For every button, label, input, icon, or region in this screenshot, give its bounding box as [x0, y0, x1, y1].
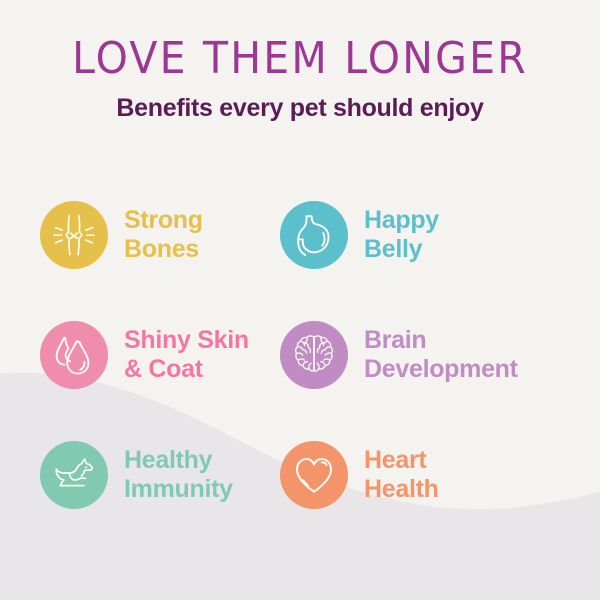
page-subtitle: Benefits every pet should enjoy	[0, 93, 600, 123]
benefit-icon-badge	[40, 441, 108, 509]
benefit-icon-badge	[40, 321, 108, 389]
heart-icon	[291, 452, 337, 498]
benefit-icon-badge	[280, 441, 348, 509]
benefit-item-strong-bones[interactable]: Strong Bones	[0, 175, 270, 295]
benefit-item-healthy-immunity[interactable]: Healthy Immunity	[0, 415, 270, 535]
bone-joint-icon	[51, 212, 97, 258]
benefit-item-happy-belly[interactable]: Happy Belly	[270, 175, 600, 295]
benefits-row: Strong Bones Happy Belly	[0, 175, 600, 295]
water-droplets-icon	[51, 332, 97, 378]
benefit-label: Strong Bones	[124, 206, 203, 264]
page-title: LOVE THEM LONGER	[0, 33, 600, 84]
benefit-item-shiny-skin-and-coat[interactable]: Shiny Skin & Coat	[0, 295, 270, 415]
benefits-row: Healthy Immunity Heart Health	[0, 415, 600, 535]
brain-icon	[291, 332, 337, 378]
benefit-label: Heart Health	[364, 446, 439, 504]
stomach-icon	[291, 212, 337, 258]
benefit-icon-badge	[280, 201, 348, 269]
benefit-item-brain-development[interactable]: Brain Development	[270, 295, 600, 415]
running-dog-icon	[50, 451, 98, 499]
poster-header: LOVE THEM LONGER Benefits every pet shou…	[0, 34, 600, 123]
benefit-label: Brain Development	[364, 326, 518, 384]
benefit-item-heart-health[interactable]: Heart Health	[270, 415, 600, 535]
benefit-label: Shiny Skin & Coat	[124, 326, 249, 384]
benefit-label: Healthy Immunity	[124, 446, 233, 504]
benefits-grid: Strong Bones Happy Belly	[0, 175, 600, 535]
benefit-label: Happy Belly	[364, 206, 439, 264]
infographic-poster: LOVE THEM LONGER Benefits every pet shou…	[0, 0, 600, 600]
benefits-row: Shiny Skin & Coat	[0, 295, 600, 415]
benefit-icon-badge	[40, 201, 108, 269]
benefit-icon-badge	[280, 321, 348, 389]
